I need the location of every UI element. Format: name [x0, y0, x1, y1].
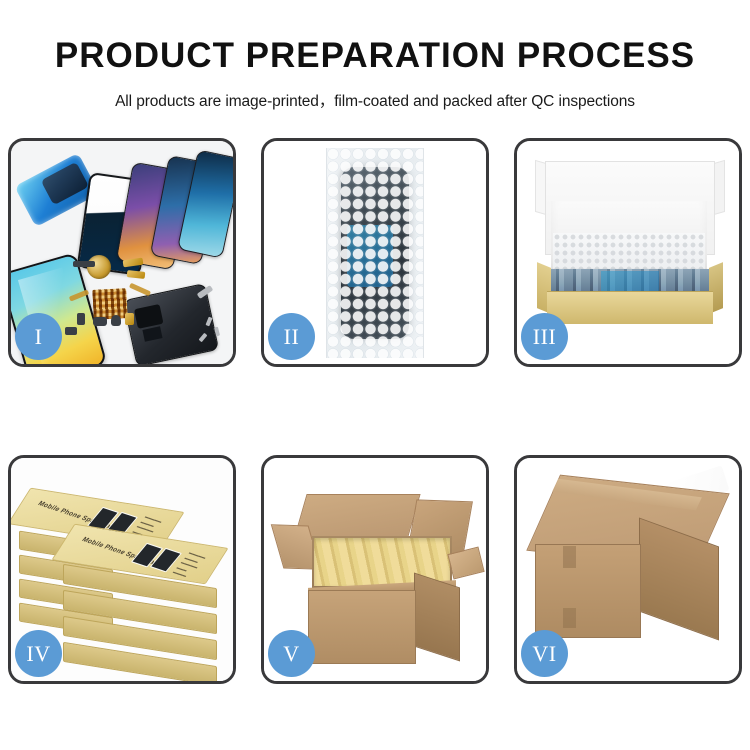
flex-cable-icon [127, 270, 146, 279]
part-icon [77, 313, 85, 325]
page-subtitle: All products are image-printed，film-coat… [0, 89, 750, 111]
process-step-3: III [514, 138, 742, 367]
page-title: PRODUCT PREPARATION PROCESS [0, 38, 750, 73]
flex-cable-icon [129, 283, 151, 297]
step-badge-1: I [15, 313, 62, 360]
part-icon [125, 313, 134, 325]
chip-grid-icon [92, 288, 128, 320]
process-step-grid: I II III [8, 138, 742, 690]
part-icon [73, 261, 95, 267]
speaker-coil-icon [87, 255, 111, 279]
step-badge-4: IV [15, 630, 62, 677]
bubble-wrap-icon [327, 148, 423, 358]
process-step-4: Mobile Phone Spare Parts ▬▬▬▬▬▬▬▬▬▬▬▬▬▬▬… [8, 455, 236, 684]
product-preparation-infographic: PRODUCT PREPARATION PROCESS All products… [0, 0, 750, 750]
step-badge-5: V [268, 630, 315, 677]
process-step-2: II [261, 138, 489, 367]
carton-seam-icon [563, 608, 576, 628]
foam-liner-icon [553, 233, 705, 273]
process-step-6: VI [514, 455, 742, 684]
carton-front-panel-icon [308, 590, 416, 664]
carton-seam-icon [563, 546, 576, 568]
carton-flap-back-icon [293, 494, 420, 540]
screw-icon [214, 327, 220, 337]
step-badge-2: II [268, 313, 315, 360]
carton-side-panel-icon [414, 573, 460, 662]
part-icon [93, 317, 107, 326]
box-front-panel-icon [547, 291, 713, 324]
step-badge-6: VI [521, 630, 568, 677]
header: PRODUCT PREPARATION PROCESS All products… [0, 0, 750, 111]
part-icon [111, 315, 121, 326]
step-badge-3: III [521, 313, 568, 360]
process-step-5: V [261, 455, 489, 684]
process-step-1: I [8, 138, 236, 367]
carton-front-panel-icon [535, 544, 641, 638]
part-icon [65, 327, 77, 335]
